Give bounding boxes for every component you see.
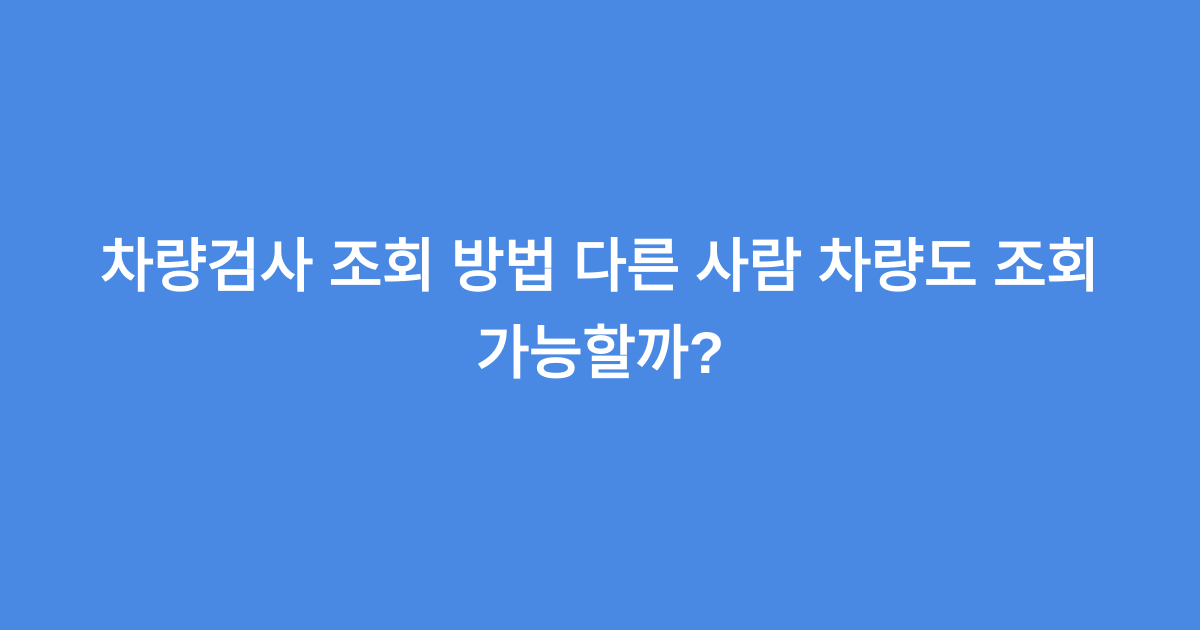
page-title: 차량검사 조회 방법 다른 사람 차량도 조회 가능할까? bbox=[70, 223, 1130, 397]
title-block: 차량검사 조회 방법 다른 사람 차량도 조회 가능할까? bbox=[70, 228, 1130, 402]
og-card: 차량검사 조회 방법 다른 사람 차량도 조회 가능할까? bbox=[0, 0, 1200, 630]
